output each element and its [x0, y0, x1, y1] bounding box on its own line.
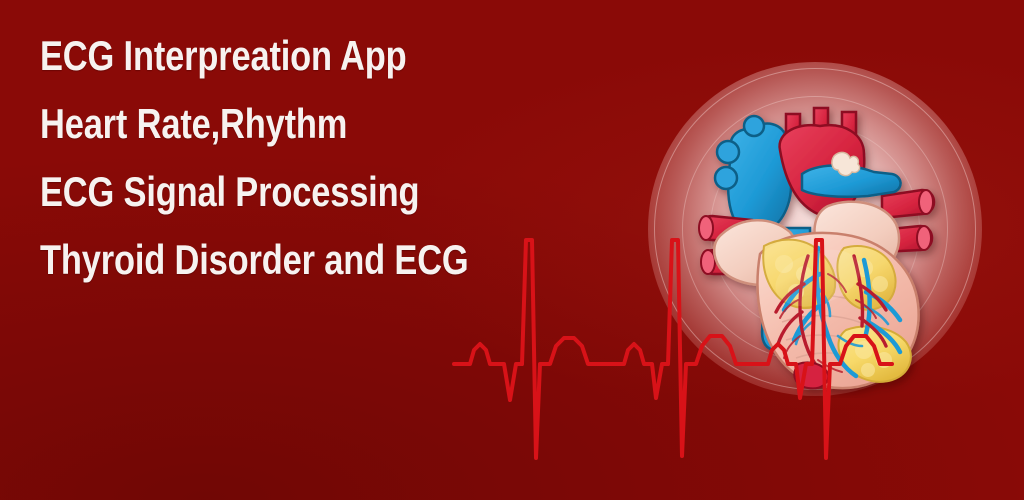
apex-vessel-stub: [794, 362, 828, 388]
headline-line-4: Thyroid Disorder and ECG: [40, 226, 466, 294]
vein-stub-3: [744, 116, 764, 136]
artery-lumen-4: [701, 250, 715, 274]
headline-line-1: ECG Interpreation App: [40, 22, 466, 90]
headline-line-3: ECG Signal Processing: [40, 158, 466, 226]
anatomical-heart-illustration: [668, 78, 968, 398]
headline-line-2: Heart Rate,Rhythm: [40, 90, 466, 158]
artery-lumen-1: [919, 190, 933, 214]
artery-lumen-2: [917, 226, 931, 250]
ecg-app-banner: ECG Interpreation App Heart Rate,Rhythm …: [0, 0, 1024, 500]
headline-block: ECG Interpreation App Heart Rate,Rhythm …: [40, 22, 560, 294]
vein-stub-2: [715, 167, 737, 189]
artery-lumen-3: [699, 216, 713, 240]
vein-stub-1: [717, 141, 739, 163]
